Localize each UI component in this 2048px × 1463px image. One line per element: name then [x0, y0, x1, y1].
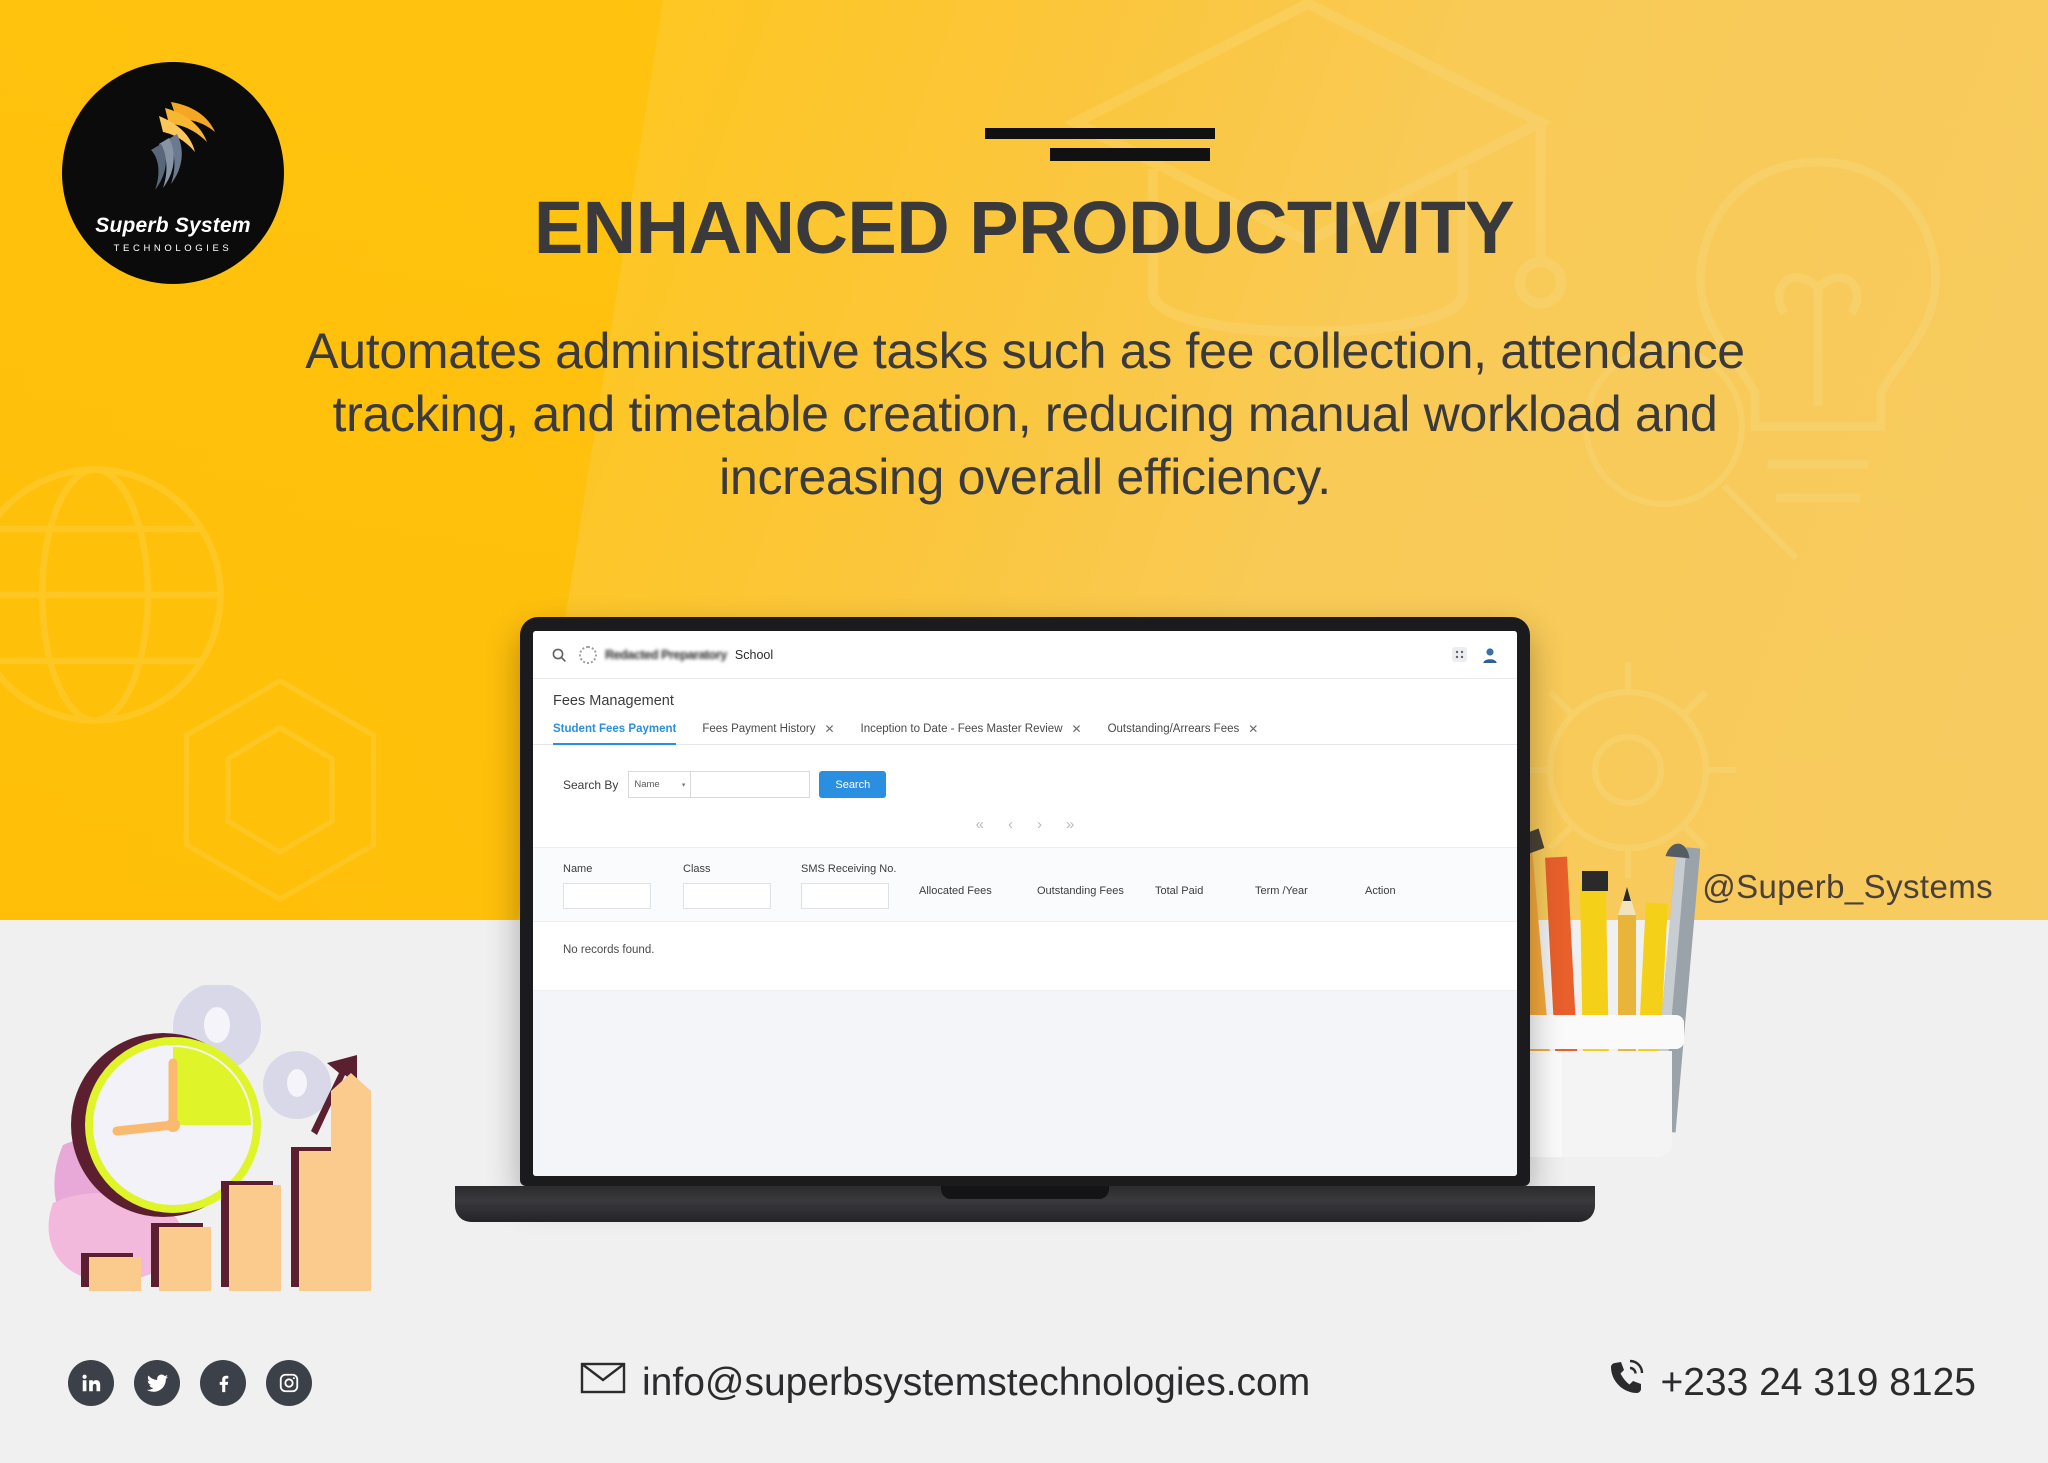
- instagram-icon[interactable]: [266, 1360, 312, 1406]
- app-content: Search By Name ▾ Search « ‹ ›: [533, 745, 1517, 991]
- school-name: Redacted Preparatory: [605, 648, 727, 662]
- tab-inception-to-date-fees-master-review[interactable]: Inception to Date - Fees Master Review ✕: [861, 723, 1082, 744]
- close-icon[interactable]: ✕: [1072, 723, 1082, 735]
- decorative-bar-bottom: [1050, 148, 1210, 161]
- column-total-paid: Total Paid: [1155, 862, 1255, 905]
- logo-wordmark: Superb System: [95, 215, 251, 236]
- poster-canvas: Superb System TECHNOLOGIES ENHANCED PROD…: [0, 0, 2048, 1463]
- tab-outstanding-arrears-fees[interactable]: Outstanding/Arrears Fees ✕: [1108, 723, 1259, 744]
- tab-label: Student Fees Payment: [553, 723, 676, 735]
- search-by-label: Search By: [563, 778, 618, 792]
- filter-input-class[interactable]: [683, 883, 771, 909]
- search-bar: Search By Name ▾ Search: [533, 745, 1517, 798]
- school-name-suffix: School: [735, 648, 773, 662]
- column-class: Class: [683, 862, 801, 909]
- column-label: Term /Year: [1255, 884, 1359, 899]
- table-header-row: Name Class SMS Receiving No.: [533, 847, 1517, 922]
- close-icon[interactable]: ✕: [824, 723, 834, 735]
- topbar-actions: [1452, 646, 1499, 664]
- app-topbar: Redacted Preparatory School: [533, 631, 1517, 679]
- tab-label: Inception to Date - Fees Master Review: [861, 723, 1063, 735]
- column-label: Allocated Fees: [919, 884, 1031, 899]
- search-input[interactable]: [690, 771, 810, 798]
- pagination-controls: « ‹ › »: [533, 798, 1517, 847]
- laptop-lid: Redacted Preparatory School: [520, 617, 1530, 1186]
- column-label: Class: [683, 862, 795, 877]
- tab-bar: Student Fees Payment Fees Payment Histor…: [533, 709, 1517, 745]
- user-avatar-icon[interactable]: [1481, 646, 1499, 664]
- column-label: SMS Receiving No.: [801, 862, 913, 877]
- clock-and-growth-chart-illustration: [45, 985, 385, 1300]
- prev-page-icon[interactable]: ‹: [1008, 816, 1013, 833]
- search-field-value: Name: [634, 779, 659, 790]
- hero-subtitle: Automates administrative tasks such as f…: [270, 320, 1780, 509]
- last-page-icon[interactable]: »: [1066, 816, 1074, 833]
- page-title: ENHANCED PRODUCTIVITY: [0, 185, 2048, 270]
- logo-tagline: TECHNOLOGIES: [114, 243, 233, 254]
- fees-management-app: Redacted Preparatory School: [533, 631, 1517, 1176]
- column-name: Name: [563, 862, 683, 909]
- first-page-icon[interactable]: «: [976, 816, 984, 833]
- phone-text: +233 24 319 8125: [1660, 1361, 1976, 1405]
- filter-input-sms[interactable]: [801, 883, 889, 909]
- tab-fees-payment-history[interactable]: Fees Payment History ✕: [702, 723, 834, 744]
- close-icon[interactable]: ✕: [1248, 723, 1258, 735]
- logo-swoosh-icon: [125, 92, 221, 207]
- empty-state-message: No records found.: [533, 922, 1517, 956]
- tab-student-fees-payment[interactable]: Student Fees Payment: [553, 723, 676, 744]
- app-background-area: [533, 991, 1517, 1176]
- grid-apps-icon[interactable]: [1452, 647, 1467, 662]
- laptop-base: [455, 1186, 1595, 1222]
- column-label: Action: [1365, 884, 1449, 899]
- tab-label: Outstanding/Arrears Fees: [1108, 723, 1240, 735]
- company-logo: Superb System TECHNOLOGIES: [62, 62, 284, 284]
- column-label: Name: [563, 862, 677, 877]
- contact-phone[interactable]: +233 24 319 8125: [1606, 1357, 1976, 1409]
- laptop-notch: [941, 1186, 1109, 1199]
- column-outstanding-fees: Outstanding Fees: [1037, 862, 1155, 905]
- laptop-screen: Redacted Preparatory School: [533, 631, 1517, 1176]
- social-links: [68, 1360, 312, 1406]
- tab-label: Fees Payment History: [702, 723, 815, 735]
- laptop-mockup: Redacted Preparatory School: [455, 617, 1595, 1222]
- chevron-down-icon: ▾: [682, 781, 686, 789]
- phone-icon: [1606, 1357, 1648, 1409]
- envelope-icon: [580, 1361, 626, 1405]
- social-handle: @Superb_Systems: [1702, 868, 1993, 906]
- twitter-icon[interactable]: [134, 1360, 180, 1406]
- decorative-bar-top: [985, 128, 1215, 139]
- column-term-year: Term /Year: [1255, 862, 1365, 905]
- email-text: info@superbsystemstechnologies.com: [642, 1361, 1310, 1405]
- column-sms-receiving-no: SMS Receiving No.: [801, 862, 919, 909]
- search-button[interactable]: Search: [819, 771, 886, 798]
- search-icon[interactable]: [551, 647, 567, 663]
- app-page-header: Fees Management: [533, 679, 1517, 709]
- next-page-icon[interactable]: ›: [1037, 816, 1042, 833]
- footer-bar: info@superbsystemstechnologies.com +233 …: [0, 1303, 2048, 1463]
- column-label: Outstanding Fees: [1037, 884, 1149, 899]
- search-field-select[interactable]: Name ▾: [628, 771, 690, 798]
- column-label: Total Paid: [1155, 884, 1249, 899]
- filter-input-name[interactable]: [563, 883, 651, 909]
- linkedin-icon[interactable]: [68, 1360, 114, 1406]
- module-title: Fees Management: [553, 693, 1497, 709]
- facebook-icon[interactable]: [200, 1360, 246, 1406]
- app-brand: Redacted Preparatory School: [579, 646, 773, 664]
- column-allocated-fees: Allocated Fees: [919, 862, 1037, 905]
- contact-email[interactable]: info@superbsystemstechnologies.com: [580, 1361, 1310, 1405]
- school-logo-icon: [579, 646, 597, 664]
- column-action: Action: [1365, 862, 1455, 905]
